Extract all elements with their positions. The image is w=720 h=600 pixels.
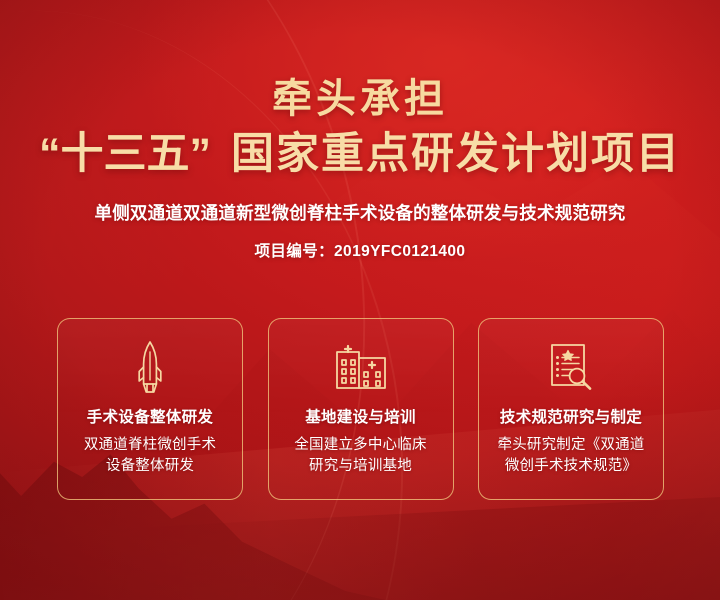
page-title-quoted-term: “十三五” [39, 130, 211, 178]
hospital-building-icon [334, 339, 388, 395]
page-title-line-1: 牵头承担 [0, 78, 720, 120]
feature-card-list: 手术设备整体研发 双通道脊柱微创手术 设备整体研发 [57, 318, 664, 500]
rocket-icon [130, 339, 170, 395]
feature-card-body: 全国建立多中心临床 研究与培训基地 [294, 435, 426, 476]
feature-card-title: 技术规范研究与制定 [500, 405, 642, 427]
poster-banner: 牵头承担 “十三五”国家重点研发计划项目 单侧双通道双通道新型微创脊柱手术设备的… [0, 0, 720, 600]
feature-card-body: 双通道脊柱微创手术 设备整体研发 [84, 435, 216, 476]
document-search-icon [546, 339, 596, 395]
feature-card-body: 牵头研究制定《双通道 微创手术技术规范》 [498, 435, 645, 476]
project-subtitle: 单侧双通道双通道新型微创脊柱手术设备的整体研发与技术规范研究 [0, 200, 720, 225]
page-title-program: 国家重点研发计划项目 [231, 130, 681, 178]
page-title-line-2: “十三五”国家重点研发计划项目 [0, 130, 720, 178]
feature-card-technical-standard[interactable]: 技术规范研究与制定 牵头研究制定《双通道 微创手术技术规范》 [478, 318, 664, 500]
headline-block: 牵头承担 “十三五”国家重点研发计划项目 单侧双通道双通道新型微创脊柱手术设备的… [0, 0, 720, 261]
feature-card-title: 基地建设与培训 [305, 405, 416, 427]
project-number: 项目编号：2019YFC0121400 [0, 239, 720, 261]
feature-card-title: 手术设备整体研发 [87, 405, 213, 427]
feature-card-equipment-rd[interactable]: 手术设备整体研发 双通道脊柱微创手术 设备整体研发 [57, 318, 243, 500]
feature-card-base-training[interactable]: 基地建设与培训 全国建立多中心临床 研究与培训基地 [268, 318, 454, 500]
